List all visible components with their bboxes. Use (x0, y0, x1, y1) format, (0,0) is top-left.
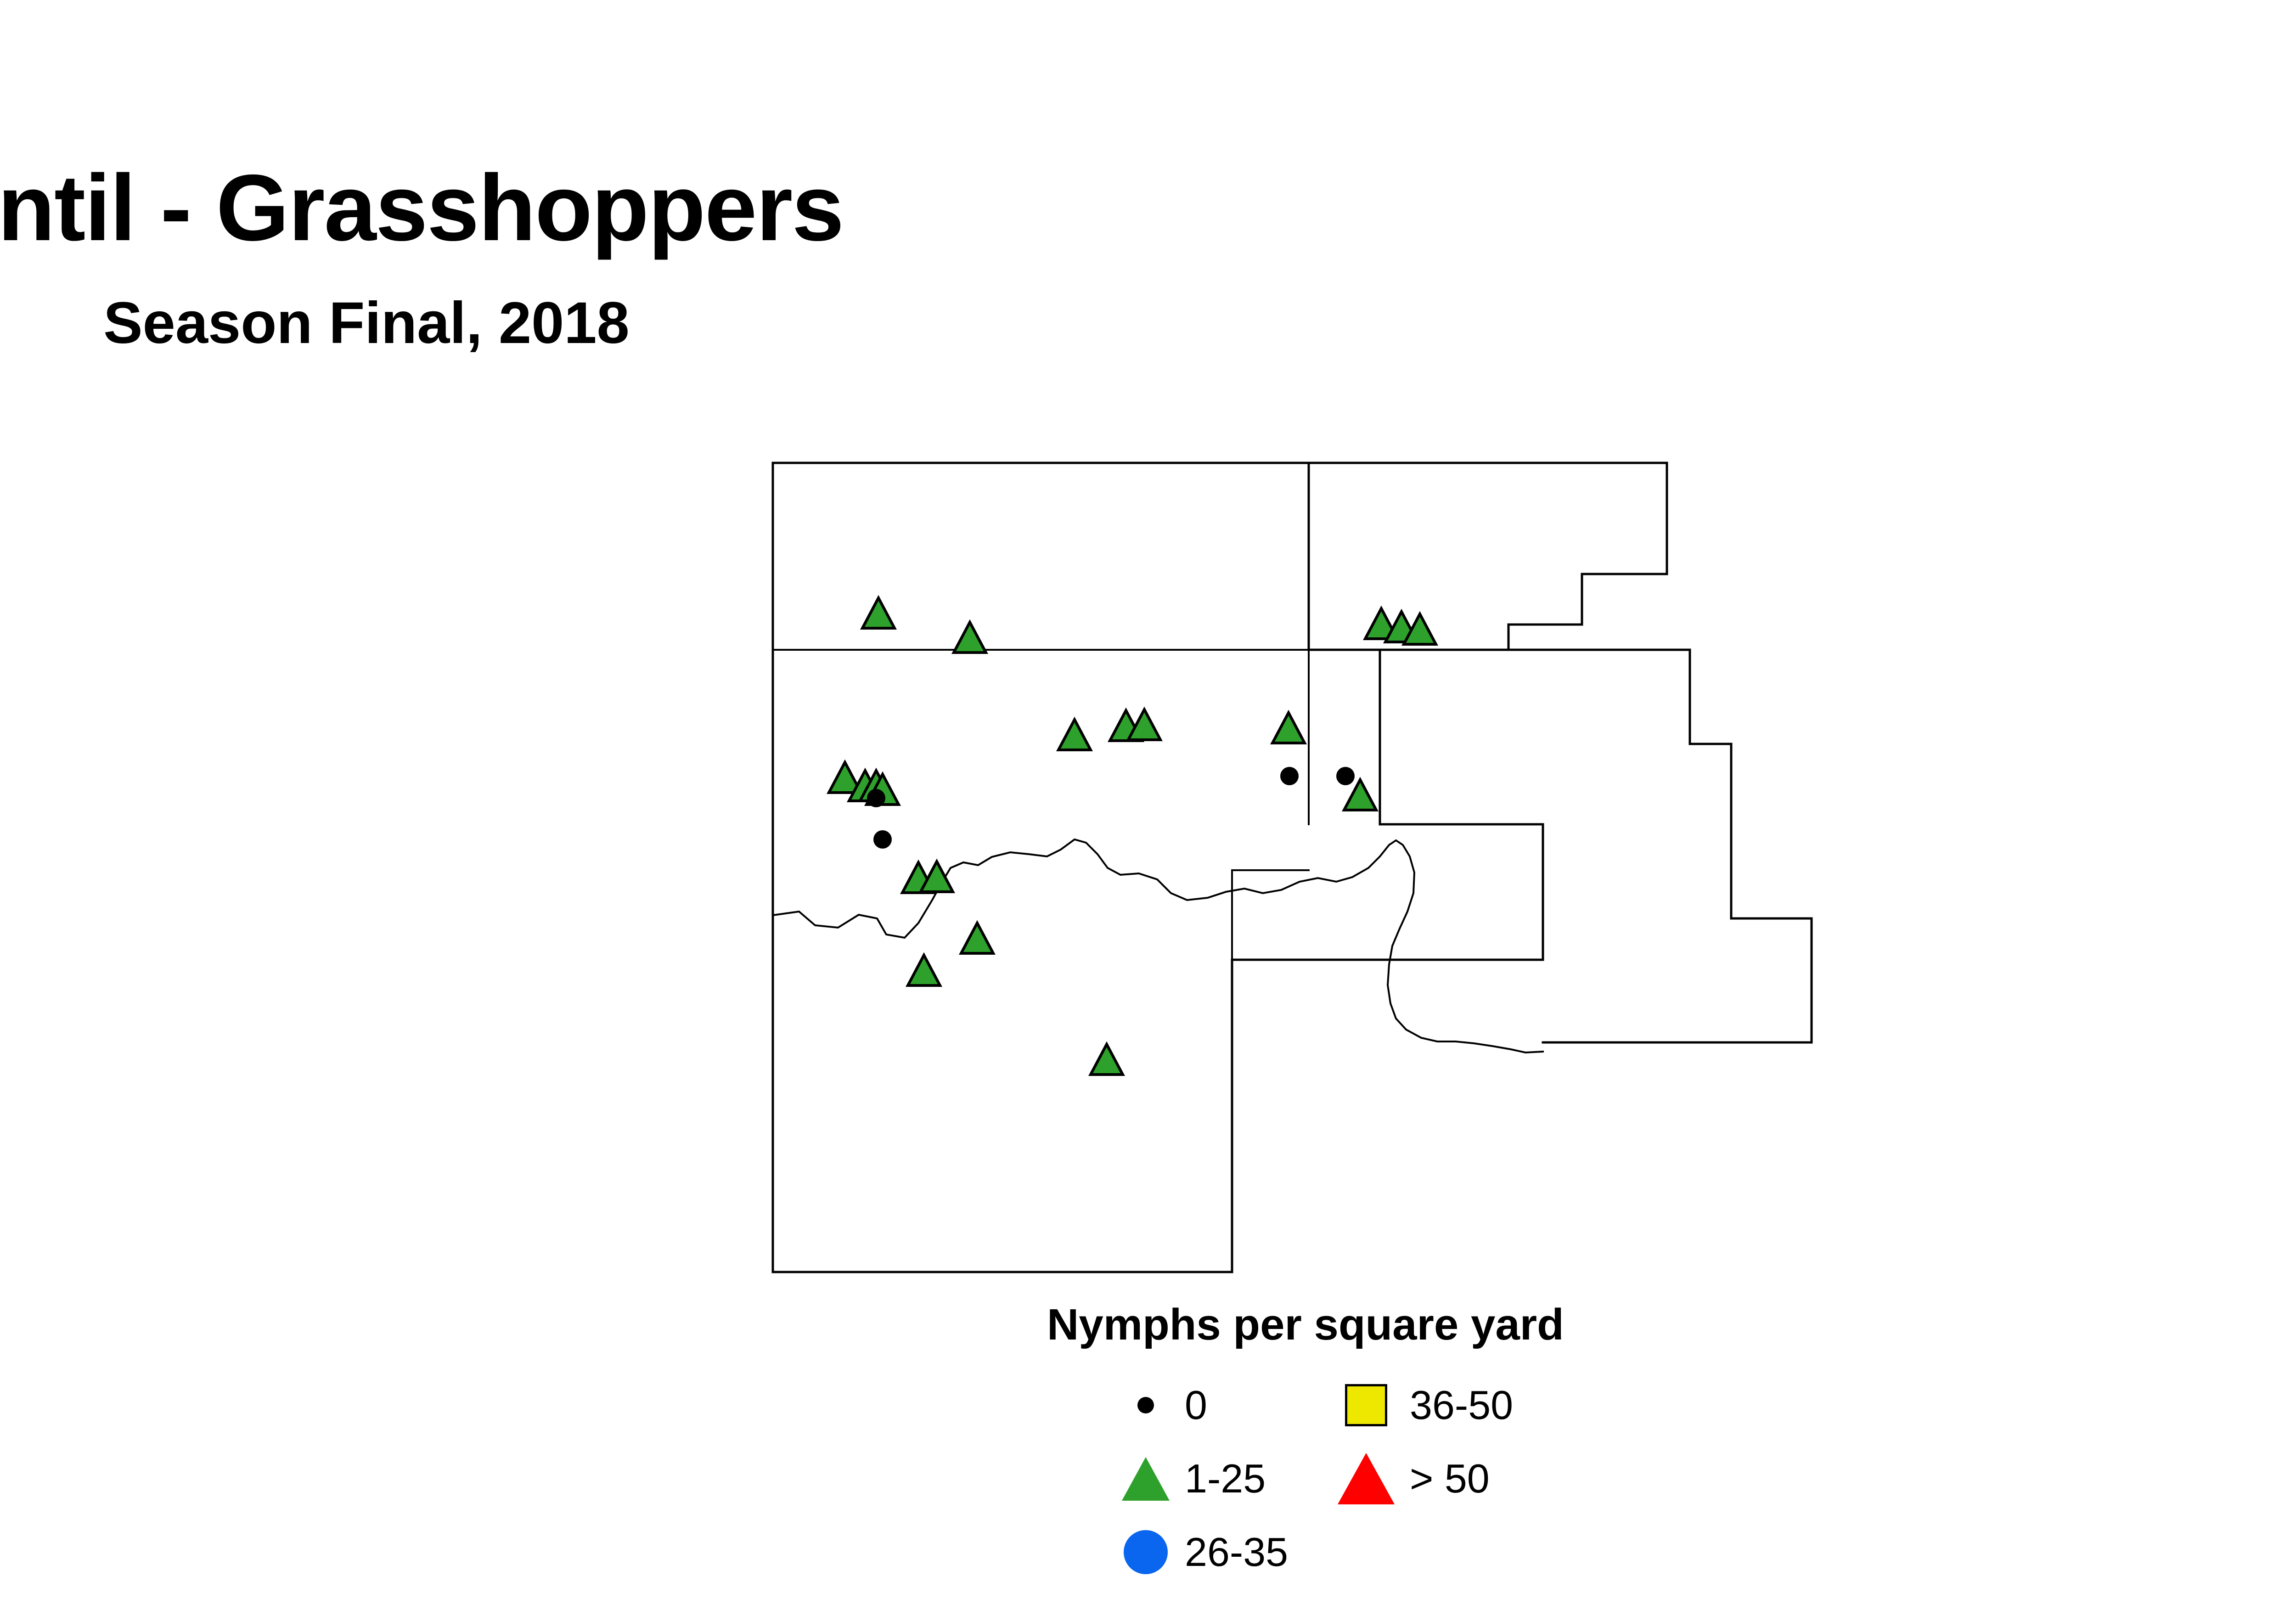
yellow-square-icon (1336, 1375, 1396, 1435)
boundary-northeast (1309, 463, 1667, 650)
river-boundary (773, 839, 1543, 1053)
marker-triangle (1272, 713, 1305, 743)
blue-circle-icon (1116, 1522, 1176, 1582)
marker-dot (867, 789, 885, 807)
map-container (735, 441, 1929, 1313)
legend-label: > 50 (1410, 1449, 1490, 1509)
map-poster: Lentil - Grasshoppers Season Final, 2018 (0, 0, 2296, 1610)
marker-triangle (908, 955, 940, 985)
page-subtitle: Season Final, 2018 (0, 294, 1895, 353)
legend-label: 0 (1185, 1375, 1207, 1435)
legend-label: 36-50 (1410, 1375, 1513, 1435)
county-boundaries (773, 463, 1812, 1272)
marker-triangle (961, 923, 993, 953)
legend-label: 1-25 (1185, 1449, 1266, 1509)
green-triangle-icon (1116, 1449, 1176, 1509)
marker-triangle (1091, 1044, 1123, 1075)
marker-triangle (862, 598, 895, 628)
marker-triangle (954, 622, 986, 653)
marker-dot (1280, 767, 1299, 785)
boundary-east (1380, 650, 1812, 1042)
marker-dot (1336, 767, 1355, 785)
marker-triangle (1058, 720, 1091, 750)
page-title: Lentil - Grasshoppers (0, 161, 1895, 255)
boundary-west-outline (773, 463, 1543, 1272)
county-map (735, 441, 1929, 1313)
legend-label: 26-35 (1185, 1522, 1288, 1582)
black-dot-icon (1116, 1375, 1176, 1435)
red-triangle-icon (1336, 1449, 1396, 1509)
legend: Nymphs per square yard 0 1-25 (1047, 1300, 1690, 1566)
marker-dot (873, 830, 892, 849)
legend-title: Nymphs per square yard (1047, 1300, 1561, 1350)
data-markers (829, 598, 1436, 1075)
marker-dot-group (867, 767, 1355, 849)
